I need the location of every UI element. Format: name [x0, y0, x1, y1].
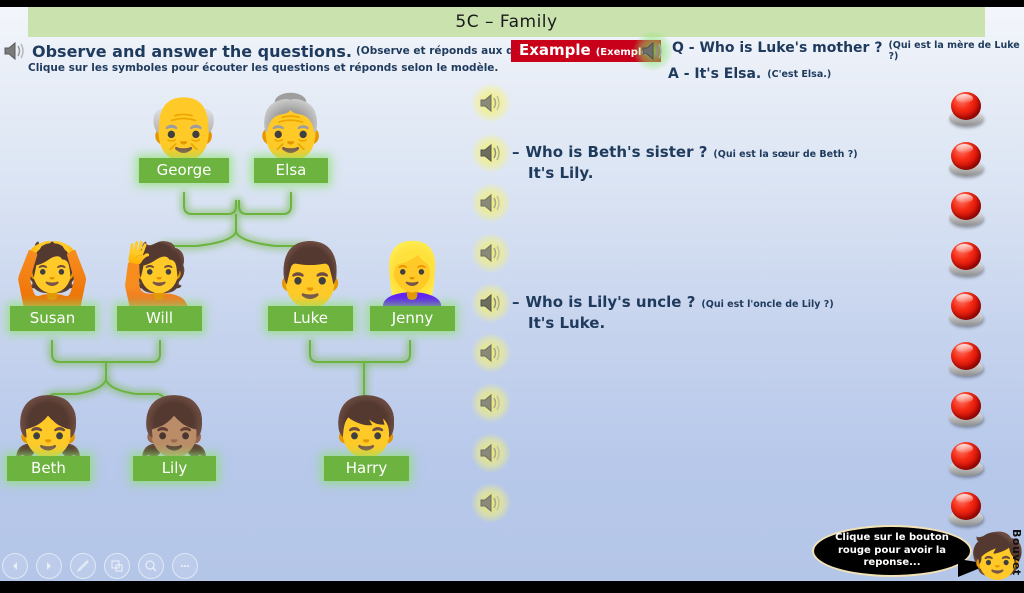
- button-gloss: [956, 194, 973, 203]
- speaker-icon[interactable]: [478, 392, 504, 414]
- instruction-main-text: Observe and answer the questions.: [32, 42, 352, 61]
- more-icon[interactable]: [172, 553, 198, 579]
- answer-button-7[interactable]: [949, 392, 983, 426]
- avatar-harry: 👦: [324, 384, 409, 456]
- pen-icon[interactable]: [70, 553, 96, 579]
- app-screen: 5C – Family Observe and answer the quest…: [0, 0, 1024, 593]
- answer-button-5[interactable]: [949, 292, 983, 326]
- nameplate-elsa[interactable]: Elsa: [254, 158, 328, 183]
- hint-bubble: Clique sur le bouton rouge pour avoir la…: [812, 525, 972, 577]
- answer-button-2[interactable]: [949, 142, 983, 176]
- button-gloss: [956, 294, 973, 303]
- nameplate-lily[interactable]: Lily: [133, 456, 216, 481]
- nameplate-jenny[interactable]: Jenny: [370, 306, 455, 331]
- nameplate-george[interactable]: George: [139, 158, 229, 183]
- speaker-icon[interactable]: [478, 342, 504, 364]
- page-title: 5C – Family: [455, 12, 557, 32]
- speaker-icon[interactable]: [478, 442, 504, 464]
- family-tree: 👴 George 👵 Elsa 🙆 Susan 🙋 Will 👨 Luke 👱‍…: [0, 72, 460, 502]
- button-gloss: [956, 94, 973, 103]
- question-row-9[interactable]: [478, 492, 512, 514]
- tree-person-george[interactable]: 👴 George: [139, 86, 229, 183]
- question-dash-5: –: [512, 293, 520, 311]
- question-en-2: Who is Beth's sister ?: [526, 143, 708, 161]
- speaker-icon[interactable]: [478, 242, 504, 264]
- question-dash-2: –: [512, 143, 520, 161]
- letterbox-top: [0, 0, 1024, 7]
- answer-button-6[interactable]: [949, 342, 983, 376]
- tree-person-harry[interactable]: 👦 Harry: [324, 384, 409, 481]
- windows-icon[interactable]: [104, 553, 130, 579]
- tree-person-lily[interactable]: 👧🏽 Lily: [133, 384, 216, 481]
- answer-en-2: It's Lily.: [528, 164, 858, 182]
- answer-button-1[interactable]: [949, 92, 983, 126]
- tree-person-elsa[interactable]: 👵 Elsa: [254, 86, 328, 183]
- speaker-icon[interactable]: [478, 192, 504, 214]
- example-question: Q - Who is Luke's mother ?: [672, 40, 882, 56]
- example-label: Example: [519, 43, 591, 58]
- question-fr-2: (Qui est la sœur de Beth ?): [713, 149, 857, 160]
- avatar-will: 🙋: [117, 234, 202, 306]
- nameplate-will[interactable]: Will: [117, 306, 202, 331]
- avatar-george: 👴: [139, 86, 229, 158]
- question-en-5: Who is Lily's uncle ?: [526, 293, 696, 311]
- next-icon[interactable]: [36, 553, 62, 579]
- nameplate-harry[interactable]: Harry: [324, 456, 409, 481]
- tree-person-luke[interactable]: 👨 Luke: [268, 234, 353, 331]
- question-row-5[interactable]: – Who is Lily's uncle ? (Qui est l'oncle…: [478, 292, 834, 332]
- question-row-1[interactable]: [478, 92, 512, 114]
- answer-button-3[interactable]: [949, 192, 983, 226]
- question-row-3[interactable]: [478, 192, 512, 214]
- button-gloss: [956, 494, 973, 503]
- hint-bubble-text: Clique sur le bouton rouge pour avoir la…: [814, 532, 970, 570]
- watermark-bouvet: Bouvet: [1010, 529, 1023, 576]
- speaker-icon[interactable]: [2, 40, 28, 62]
- question-fr-5: (Qui est l'oncle de Lily ?): [701, 299, 833, 310]
- avatar-susan: 🙆: [10, 234, 95, 306]
- previous-icon[interactable]: [2, 553, 28, 579]
- example-answer: A - It's Elsa.: [668, 66, 761, 82]
- speaker-icon[interactable]: [478, 142, 504, 164]
- question-row-8[interactable]: [478, 442, 512, 464]
- button-gloss: [956, 394, 973, 403]
- question-row-4[interactable]: [478, 242, 512, 264]
- avatar-beth: 👧: [7, 384, 90, 456]
- avatar-luke: 👨: [268, 234, 353, 306]
- example-question-fr: (Qui est la mère de Luke ?): [888, 40, 1024, 62]
- question-row-6[interactable]: [478, 342, 512, 364]
- answer-button-4[interactable]: [949, 242, 983, 276]
- avatar-jenny: 👱‍♀️: [370, 234, 455, 306]
- button-gloss: [956, 344, 973, 353]
- letterbox-bottom: [0, 581, 1024, 593]
- avatar-lily: 👧🏽: [133, 384, 216, 456]
- answer-button-8[interactable]: [949, 442, 983, 476]
- speaker-icon[interactable]: [478, 92, 504, 114]
- tree-person-susan[interactable]: 🙆 Susan: [10, 234, 95, 331]
- bottom-toolbar: [2, 553, 198, 579]
- tree-person-will[interactable]: 🙋 Will: [117, 234, 202, 331]
- magnifier-icon[interactable]: [138, 553, 164, 579]
- button-gloss: [956, 144, 973, 153]
- answer-button-9[interactable]: [949, 492, 983, 526]
- answer-en-5: It's Luke.: [528, 314, 834, 332]
- example-qa-block: Q - Who is Luke's mother ? (Qui est la m…: [640, 40, 1024, 82]
- speaker-icon[interactable]: [478, 492, 504, 514]
- tree-person-jenny[interactable]: 👱‍♀️ Jenny: [370, 234, 455, 331]
- question-row-7[interactable]: [478, 392, 512, 414]
- example-speaker-icon[interactable]: [640, 40, 666, 62]
- example-answer-fr: (C'est Elsa.): [767, 69, 831, 80]
- question-row-2[interactable]: – Who is Beth's sister ? (Qui est la sœu…: [478, 142, 858, 182]
- nameplate-beth[interactable]: Beth: [7, 456, 90, 481]
- tree-person-beth[interactable]: 👧 Beth: [7, 384, 90, 481]
- button-gloss: [956, 244, 973, 253]
- button-gloss: [956, 444, 973, 453]
- avatar-elsa: 👵: [254, 86, 328, 158]
- page-title-bar: 5C – Family: [28, 7, 985, 37]
- speaker-icon[interactable]: [478, 292, 504, 314]
- nameplate-susan[interactable]: Susan: [10, 306, 95, 331]
- nameplate-luke[interactable]: Luke: [268, 306, 353, 331]
